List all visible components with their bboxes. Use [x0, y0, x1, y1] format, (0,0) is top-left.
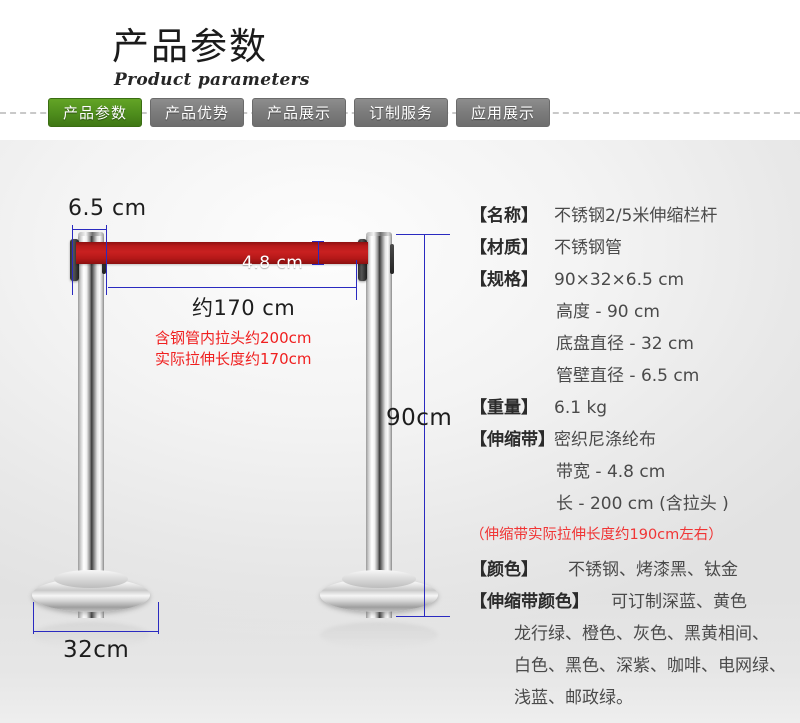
dim-label-belt-span: 约170 cm [192, 292, 295, 322]
spec-label-size: 【规格】 [470, 264, 554, 296]
dim-ext-post-diameter-right [106, 233, 107, 295]
spec-row-color: 【颜色】 不锈钢、烤漆黑、钛金 [470, 554, 800, 586]
spec-label-color: 【颜色】 [470, 554, 554, 586]
product-photo: 4.8 cm 6.5 cm 约170 cm 含钢管内拉头约200cm 实际拉伸长… [0, 140, 800, 723]
dim-tick-post-height-top [396, 234, 450, 235]
page-subtitle: Product parameters [114, 70, 310, 90]
dim-line-post-diameter [72, 229, 106, 230]
dim-tick-post-diameter-right [106, 225, 107, 233]
dim-label-base-diameter: 32cm [63, 637, 129, 663]
post-base-top-right [342, 570, 416, 588]
dim-tick-belt-width-bottom [312, 264, 324, 265]
page-title: 产品参数 [112, 28, 268, 65]
dim-tick-base-diameter-left [33, 602, 34, 634]
tab-chanpincanshu[interactable]: 产品参数 [48, 98, 142, 127]
dim-tick-belt-width-top [312, 241, 324, 242]
post-base-top-left [54, 570, 128, 588]
dim-label-post-height: 90cm [386, 405, 452, 431]
spec-value-weight: 6.1 kg [554, 392, 607, 424]
spec-row-material: 【材质】 不锈钢管 [470, 232, 800, 264]
spec-label-material: 【材质】 [470, 232, 554, 264]
tab-chanpinyoushi[interactable]: 产品优势 [150, 98, 244, 127]
belt-width-label: 4.8 cm [242, 253, 303, 273]
section-tabbar: 产品参数 产品优势 产品展示 订制服务 应用展示 [0, 98, 800, 128]
tab-dingzhifuwu[interactable]: 订制服务 [354, 98, 448, 127]
spec-value-color: 不锈钢、烤漆黑、钛金 [554, 554, 738, 586]
spec-detail-belt-color-3: 浅蓝、邮政绿。 [470, 682, 800, 714]
spec-detail-belt-color-2: 白色、黑色、深紫、咖啡、电网绿、 [470, 650, 800, 682]
spec-value-material: 不锈钢管 [554, 232, 622, 264]
spec-row-name: 【名称】 不锈钢2/5米伸缩栏杆 [470, 200, 800, 232]
dim-line-base-diameter [33, 631, 159, 632]
spec-row-weight: 【重量】 6.1 kg [470, 392, 800, 424]
photo-note-line-2: 实际拉伸长度约170cm [155, 349, 312, 370]
dim-tick-post-height-bottom [396, 616, 450, 617]
dim-line-belt-span [108, 287, 356, 288]
photo-note-line-1: 含钢管内拉头约200cm [155, 328, 312, 349]
page-header: 产品参数 Product parameters 产品参数 产品优势 产品展示 订… [0, 0, 800, 140]
spec-row-belt-color: 【伸缩带颜色】 可订制深蓝、黄色 [470, 586, 800, 618]
spec-note-belt-length: （伸缩带实际拉伸长度约190cm左右） [470, 520, 800, 550]
spec-detail-belt-length: 长 - 200 cm (含拉头 ) [470, 488, 800, 520]
spec-value-belt-color: 可订制深蓝、黄色 [589, 586, 747, 618]
product-spec-page: 产品参数 Product parameters 产品参数 产品优势 产品展示 订… [0, 0, 800, 723]
spec-table: 【名称】 不锈钢2/5米伸缩栏杆 【材质】 不锈钢管 【规格】 90×32×6.… [470, 200, 800, 714]
post-tube-left [78, 236, 104, 618]
base-reflection-right [320, 622, 438, 648]
spec-value-name: 不锈钢2/5米伸缩栏杆 [554, 200, 717, 232]
dim-ext-post-diameter-left [72, 233, 73, 295]
spec-detail-tube-diameter: 管壁直径 - 6.5 cm [470, 360, 800, 392]
tab-chanpinzhanshi[interactable]: 产品展示 [252, 98, 346, 127]
dim-ext-belt-span-right [356, 260, 357, 300]
dim-tick-base-diameter-right [158, 602, 159, 634]
spec-detail-height: 高度 - 90 cm [470, 296, 800, 328]
spec-value-size: 90×32×6.5 cm [554, 264, 684, 296]
dim-label-post-diameter: 6.5 cm [68, 196, 147, 221]
spec-label-belt: 【伸缩带】 [470, 424, 554, 456]
spec-detail-base-diameter: 底盘直径 - 32 cm [470, 328, 800, 360]
tab-yingyongzhanshi[interactable]: 应用展示 [456, 98, 550, 127]
belt-slot-right [390, 244, 394, 274]
spec-label-belt-color: 【伸缩带颜色】 [470, 586, 589, 618]
spec-detail-belt-color-1: 龙行绿、橙色、灰色、黑黄相间、 [470, 618, 800, 650]
spec-row-size: 【规格】 90×32×6.5 cm [470, 264, 800, 296]
dim-tick-post-diameter-left [72, 225, 73, 233]
spec-label-weight: 【重量】 [470, 392, 554, 424]
spec-value-belt: 密织尼涤纶布 [554, 424, 656, 456]
retractable-belt [76, 242, 368, 264]
spec-row-belt: 【伸缩带】 密织尼涤纶布 [470, 424, 800, 456]
spec-label-name: 【名称】 [470, 200, 554, 232]
spec-detail-belt-width: 带宽 - 4.8 cm [470, 456, 800, 488]
dim-line-belt-width [318, 241, 319, 265]
